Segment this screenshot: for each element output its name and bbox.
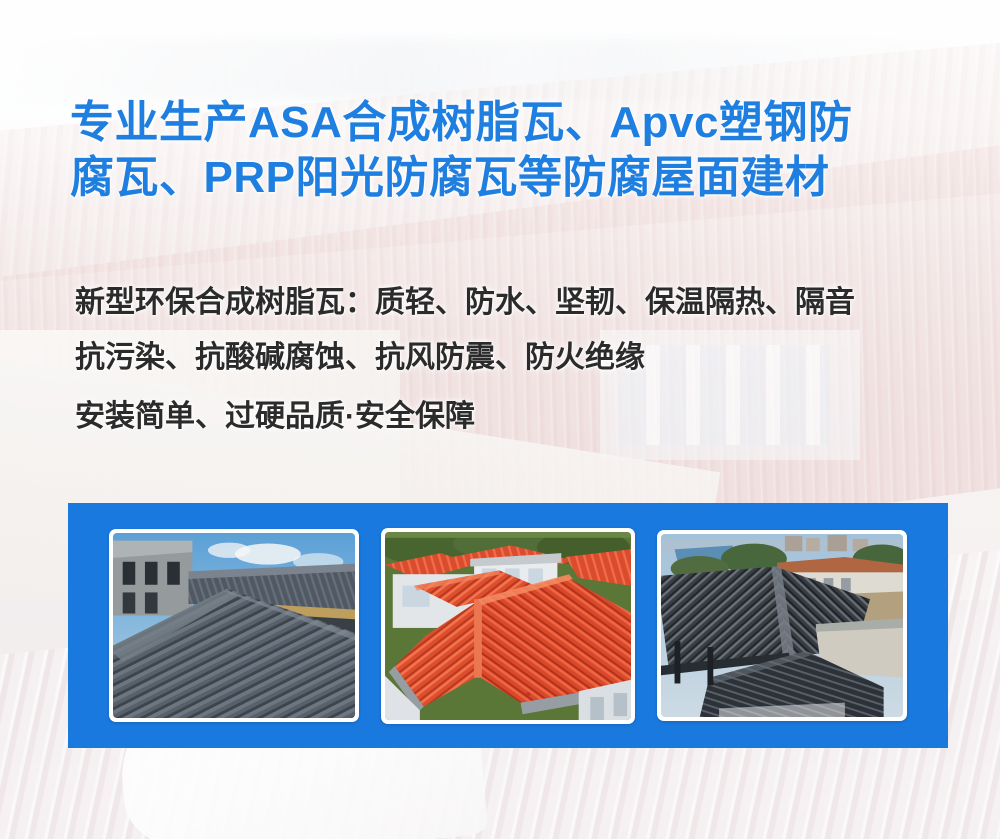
banner-content: 专业生产ASA合成树脂瓦、Apvc塑钢防 腐瓦、PRP阳光防腐瓦等防腐屋面建材 …	[0, 0, 1000, 839]
gallery-photo-3[interactable]	[657, 530, 907, 721]
red-resin-tile-roof-photo	[385, 532, 631, 720]
headline-line-2: 腐瓦、PRP阳光防腐瓦等防腐屋面建材	[70, 150, 950, 205]
product-photo-gallery	[68, 503, 948, 748]
product-banner: 专业生产ASA合成树脂瓦、Apvc塑钢防 腐瓦、PRP阳光防腐瓦等防腐屋面建材 …	[0, 0, 1000, 839]
subhead-line-1: 新型环保合成树脂瓦：质轻、防水、坚韧、保温隔热、隔音	[75, 275, 955, 330]
dark-gray-resin-tile-roof-photo	[113, 533, 355, 718]
subhead-line-2: 抗污染、抗酸碱腐蚀、抗风防震、防火绝缘	[75, 330, 955, 385]
gallery-photo-2[interactable]	[381, 528, 635, 724]
gallery-photo-1[interactable]	[109, 529, 359, 722]
subhead-line-3: 安装简单、过硬品质·安全保障	[75, 389, 955, 444]
headline-line-1: 专业生产ASA合成树脂瓦、Apvc塑钢防	[70, 98, 853, 147]
banner-subheadline: 新型环保合成树脂瓦：质轻、防水、坚韧、保温隔热、隔音 抗污染、抗酸碱腐蚀、抗风防…	[75, 275, 955, 444]
black-resin-tile-roof-photo	[661, 534, 903, 717]
banner-headline: 专业生产ASA合成树脂瓦、Apvc塑钢防 腐瓦、PRP阳光防腐瓦等防腐屋面建材	[70, 95, 950, 205]
